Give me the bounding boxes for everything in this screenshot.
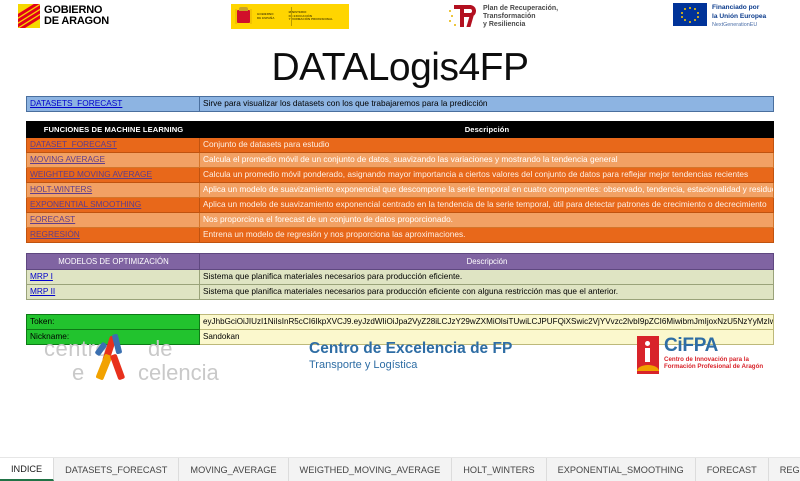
opt-link-mrp-ii[interactable]: MRP II bbox=[30, 286, 55, 296]
ml-description: Calcula el promedio móvil de un conjunto… bbox=[200, 153, 774, 168]
footer-logo-strip: centro e de celencia Centro de Excelenci… bbox=[0, 330, 800, 390]
ml-header-functions: FUNCIONES DE MACHINE LEARNING bbox=[27, 122, 200, 138]
sheet-tab-bar: INDICE DATASETS_FORECAST MOVING_AVERAGE … bbox=[0, 457, 800, 481]
optimization-models-table: MODELOS DE OPTIMIZACIÓN Descripción MRP … bbox=[26, 253, 774, 300]
header-logo-strip: GOBIERNO DE ARAGON GOBIERNO DE ESPAÑA MI… bbox=[0, 0, 800, 40]
cifpa-sub-line2: Formación Profesional de Aragón bbox=[664, 363, 763, 370]
sheet-tab-indice[interactable]: INDICE bbox=[0, 458, 54, 481]
opt-link-cell[interactable]: MRP I bbox=[27, 270, 200, 285]
token-label: Token: bbox=[27, 315, 200, 330]
prtr-line3: y Resiliencia bbox=[483, 21, 558, 29]
ml-description: Nos proporciona el forecast de un conjun… bbox=[200, 213, 774, 228]
table-row: MRP I Sistema que planifica materiales n… bbox=[27, 270, 774, 285]
datasets-forecast-link-cell[interactable]: DATASETS_FORECAST bbox=[27, 97, 200, 112]
aragon-shield-icon bbox=[18, 4, 40, 28]
table-row: DATASETS_FORECAST Sirve para visualizar … bbox=[27, 97, 774, 112]
table-row: Token: eyJhbGciOiJIUzI1NiIsInR5cCI6IkpXV… bbox=[27, 315, 774, 330]
sheet-tab-regresion[interactable]: REGRESION bbox=[769, 458, 800, 481]
cex-word-de: de bbox=[148, 336, 172, 362]
token-value[interactable]: eyJhbGciOiJIUzI1NiIsInR5cCI6IkpXVCJ9.eyJ… bbox=[200, 315, 774, 330]
minedu-gobierno-line2: DE ESPAÑA bbox=[257, 17, 275, 21]
cifpa-name: CiFPA bbox=[664, 336, 763, 356]
table-row: REGRESIÓN Entrena un modelo de regresión… bbox=[27, 228, 774, 243]
centro-excelencia-logo: centro e de celencia bbox=[20, 332, 205, 388]
ml-description: Entrena un modelo de regresión y nos pro… bbox=[200, 228, 774, 243]
prtr-monogram-icon bbox=[448, 3, 478, 29]
centro-excelencia-fp-logo: Centro de Excelencia de FP Transporte y … bbox=[309, 340, 512, 372]
ml-link-cell[interactable]: HOLT-WINTERS bbox=[27, 183, 200, 198]
sheet-tab-forecast[interactable]: FORECAST bbox=[696, 458, 769, 481]
eu-line1: Financiado por bbox=[712, 3, 766, 12]
datasets-forecast-table: DATASETS_FORECAST Sirve para visualizar … bbox=[26, 96, 774, 112]
ministerio-educacion-logo: GOBIERNO DE ESPAÑA MINISTERIO DE EDUCACI… bbox=[231, 4, 349, 29]
sheet-tab-holt-winters[interactable]: HOLT_WINTERS bbox=[452, 458, 546, 481]
ml-description: Calcula un promedio móvil ponderado, asi… bbox=[200, 168, 774, 183]
cefp-subtitle: Transporte y Logística bbox=[309, 358, 512, 372]
ml-link-exponential-smoothing[interactable]: EXPONENTIAL SMOOTHING bbox=[30, 199, 141, 209]
excelencia-x-icon bbox=[92, 334, 140, 384]
cex-word-celencia: celencia bbox=[138, 360, 219, 386]
opt-header-description: Descripción bbox=[200, 254, 774, 270]
table-row: FORECAST Nos proporciona el forecast de … bbox=[27, 213, 774, 228]
ml-link-cell[interactable]: WEIGHTED MOVING AVERAGE bbox=[27, 168, 200, 183]
spain-coat-of-arms-icon bbox=[235, 7, 252, 27]
union-europea-logo: Financiado por la Unión Europea NextGene… bbox=[673, 3, 766, 28]
ml-link-holt-winters[interactable]: HOLT-WINTERS bbox=[30, 184, 92, 194]
ml-link-cell[interactable]: DATASET_FORECAST bbox=[27, 138, 200, 153]
datasets-forecast-link[interactable]: DATASETS_FORECAST bbox=[30, 98, 122, 108]
ml-link-cell[interactable]: EXPONENTIAL SMOOTHING bbox=[27, 198, 200, 213]
ml-description: Aplica un modelo de suavizamiento expone… bbox=[200, 198, 774, 213]
ml-table-header-row: FUNCIONES DE MACHINE LEARNING Descripció… bbox=[27, 122, 774, 138]
ml-description: Conjunto de datasets para estudio bbox=[200, 138, 774, 153]
cifpa-sub-line1: Centro de Innovación para la bbox=[664, 356, 763, 363]
ml-description: Aplica un modelo de suavizamiento expone… bbox=[200, 183, 774, 198]
ml-link-dataset-forecast[interactable]: DATASET_FORECAST bbox=[30, 139, 117, 149]
table-row: MOVING AVERAGE Calcula el promedio móvil… bbox=[27, 153, 774, 168]
ml-link-weighted-moving-average[interactable]: WEIGHTED MOVING AVERAGE bbox=[30, 169, 152, 179]
opt-description: Sistema que planifica materiales necesar… bbox=[200, 285, 774, 300]
ml-header-description: Descripción bbox=[200, 122, 774, 138]
eu-line3: NextGenerationEU bbox=[712, 21, 766, 28]
cifpa-i-icon bbox=[637, 336, 659, 374]
opt-link-mrp-i[interactable]: MRP I bbox=[30, 271, 53, 281]
prtr-line2: Transformación bbox=[483, 13, 558, 21]
sheet-tab-exponential-smoothing[interactable]: EXPONENTIAL_SMOOTHING bbox=[547, 458, 696, 481]
eu-flag-icon bbox=[673, 3, 707, 26]
eu-line2: la Unión Europea bbox=[712, 12, 766, 21]
sheet-tab-datasets-forecast[interactable]: DATASETS_FORECAST bbox=[54, 458, 179, 481]
opt-table-header-row: MODELOS DE OPTIMIZACIÓN Descripción bbox=[27, 254, 774, 270]
cifpa-logo: CiFPA Centro de Innovación para la Forma… bbox=[637, 336, 763, 374]
sheet-tab-weigthed-moving-average[interactable]: WEIGTHED_MOVING_AVERAGE bbox=[289, 458, 453, 481]
cefp-title: Centro de Excelencia de FP bbox=[309, 340, 512, 358]
ml-link-cell[interactable]: FORECAST bbox=[27, 213, 200, 228]
ml-link-cell[interactable]: REGRESIÓN bbox=[27, 228, 200, 243]
opt-description: Sistema que planifica materiales necesar… bbox=[200, 270, 774, 285]
table-row: WEIGHTED MOVING AVERAGE Calcula un prome… bbox=[27, 168, 774, 183]
gobierno-de-aragon-logo: GOBIERNO DE ARAGON bbox=[18, 4, 109, 28]
opt-link-cell[interactable]: MRP II bbox=[27, 285, 200, 300]
ml-link-moving-average[interactable]: MOVING AVERAGE bbox=[30, 154, 105, 164]
page-title: DATALogis4FP bbox=[0, 46, 800, 90]
aragon-logo-line2: DE ARAGON bbox=[44, 16, 109, 28]
table-row: EXPONENTIAL SMOOTHING Aplica un modelo d… bbox=[27, 198, 774, 213]
table-row: DATASET_FORECAST Conjunto de datasets pa… bbox=[27, 138, 774, 153]
spreadsheet-page: GOBIERNO DE ARAGON GOBIERNO DE ESPAÑA MI… bbox=[0, 0, 800, 480]
minedu-ministerio-line3: Y FORMACIÓN PROFESIONAL bbox=[289, 18, 333, 22]
opt-header-models: MODELOS DE OPTIMIZACIÓN bbox=[27, 254, 200, 270]
table-row: MRP II Sistema que planifica materiales … bbox=[27, 285, 774, 300]
plan-recuperacion-logo: Plan de Recuperación, Transformación y R… bbox=[448, 3, 558, 30]
ml-link-regresion[interactable]: REGRESIÓN bbox=[30, 229, 80, 239]
prtr-line1: Plan de Recuperación, bbox=[483, 5, 558, 13]
machine-learning-table: FUNCIONES DE MACHINE LEARNING Descripció… bbox=[26, 121, 774, 243]
ml-link-cell[interactable]: MOVING AVERAGE bbox=[27, 153, 200, 168]
datasets-forecast-description: Sirve para visualizar los datasets con l… bbox=[200, 97, 774, 112]
cex-word-e: e bbox=[72, 360, 85, 386]
sheet-tab-moving-average[interactable]: MOVING_AVERAGE bbox=[179, 458, 288, 481]
ml-link-forecast[interactable]: FORECAST bbox=[30, 214, 75, 224]
table-row: HOLT-WINTERS Aplica un modelo de suaviza… bbox=[27, 183, 774, 198]
